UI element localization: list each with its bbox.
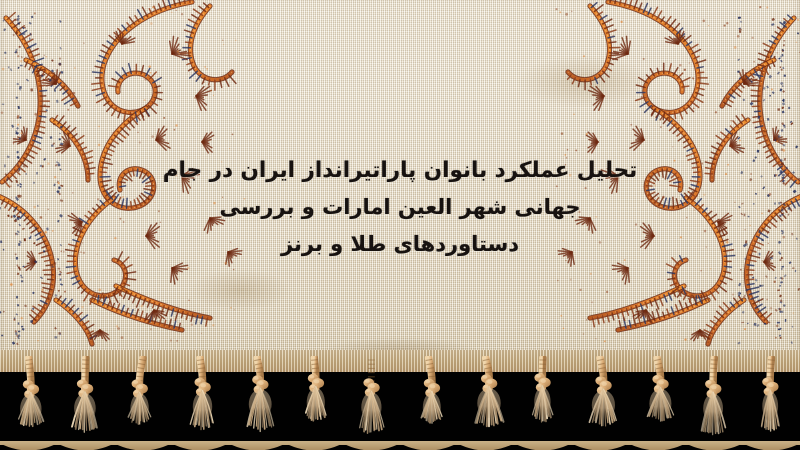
caption-line-3: دستاوردهای طلا و برنز [100,226,700,263]
caption-line-2: جهانی شهر العین امارات و بررسی [100,189,700,226]
caption-line-1: تحلیل عملکرد بانوان پاراتیرانداز ایران د… [100,152,700,189]
knotted-tassel-fringe [0,356,800,450]
image-canvas: تحلیل عملکرد بانوان پاراتیرانداز ایران د… [0,0,800,450]
headline-caption: تحلیل عملکرد بانوان پاراتیرانداز ایران د… [100,152,700,263]
